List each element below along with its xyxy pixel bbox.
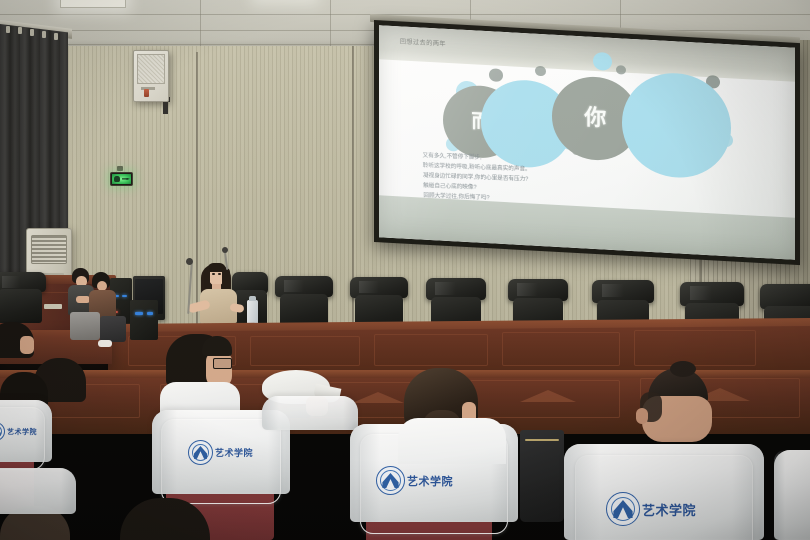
- microphone-head: [186, 258, 193, 265]
- eyeglasses: [213, 358, 232, 369]
- chair-logo: 艺术学院: [606, 492, 696, 526]
- academy-seal-icon: [376, 466, 405, 495]
- decor-bubble: [489, 68, 502, 81]
- audience-legs: [70, 312, 100, 340]
- projector-screen-frame: 回想过去的两年 而 你: [374, 20, 800, 265]
- table-panel: [502, 332, 620, 366]
- shoe: [98, 340, 112, 347]
- decor-bubble: [616, 65, 626, 75]
- curtain-hook: [54, 33, 58, 40]
- ceiling-light: [60, 0, 126, 8]
- audience-legs: [100, 316, 126, 342]
- handbag: [520, 430, 564, 522]
- presentation-slide: 回想过去的两年 而 你: [379, 25, 795, 260]
- academy-name: 艺术学院: [407, 473, 453, 489]
- lecture-hall-photo: 回想过去的两年 而 你: [0, 0, 810, 540]
- student-shirt: [398, 418, 506, 464]
- table-panel: [374, 334, 488, 366]
- chair-logo: 艺术学院: [376, 466, 453, 495]
- chair-cover: [262, 396, 358, 430]
- microphone-head: [222, 247, 228, 253]
- table-panel: [634, 330, 756, 366]
- curtain-hook: [18, 27, 22, 34]
- slide-bubble-char-2: 你: [566, 93, 624, 141]
- academy-name: 艺术学院: [215, 446, 253, 459]
- chair-cover: [774, 450, 810, 540]
- decor-bubble: [535, 66, 546, 77]
- projector-screen-surface: 回想过去的两年 而 你: [379, 25, 795, 260]
- curtain-hook: [6, 26, 10, 33]
- chair-cover: [0, 468, 76, 514]
- chair-logo: 艺术学院: [0, 422, 37, 441]
- wall-seam: [196, 52, 198, 342]
- table-panel: [250, 336, 360, 366]
- academy-seal-icon: [606, 492, 640, 526]
- exit-sign: [110, 172, 133, 186]
- chair-logo: 艺术学院: [188, 440, 253, 465]
- academy-seal-icon: [188, 440, 213, 465]
- wall-seam: [352, 46, 354, 346]
- academy-name: 艺术学院: [7, 427, 37, 437]
- exit-sign-bracket: [117, 166, 123, 171]
- academy-name: 艺术学院: [642, 500, 696, 519]
- side-equipment-rack: [130, 300, 158, 340]
- speaker-led: [144, 89, 149, 97]
- academy-seal-icon: [0, 422, 5, 441]
- wall-speaker: [133, 50, 169, 102]
- curtain-hook: [30, 29, 34, 36]
- curtain-hook: [42, 31, 46, 38]
